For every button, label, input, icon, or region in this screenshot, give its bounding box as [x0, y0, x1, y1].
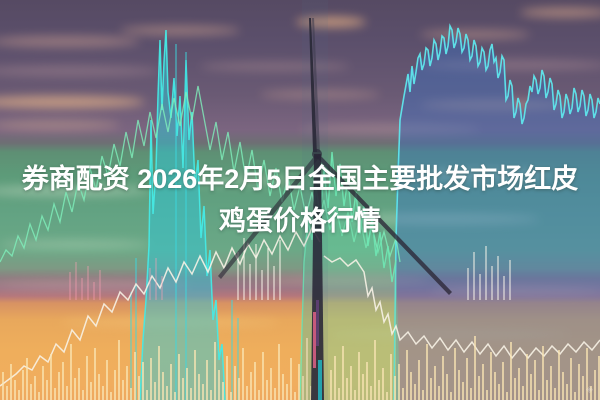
banner-title-line2: 鸡蛋价格行情 — [219, 201, 381, 241]
banner-title: 券商配资 2026年2月5日全国主要批发市场红皮 鸡蛋价格行情 — [0, 0, 600, 400]
banner-title-line1: 券商配资 2026年2月5日全国主要批发市场红皮 — [22, 159, 579, 199]
watermark-glyph: ◈ — [586, 384, 593, 395]
banner-image: 券商配资 2026年2月5日全国主要批发市场红皮 鸡蛋价格行情 ◈ — [0, 0, 600, 400]
